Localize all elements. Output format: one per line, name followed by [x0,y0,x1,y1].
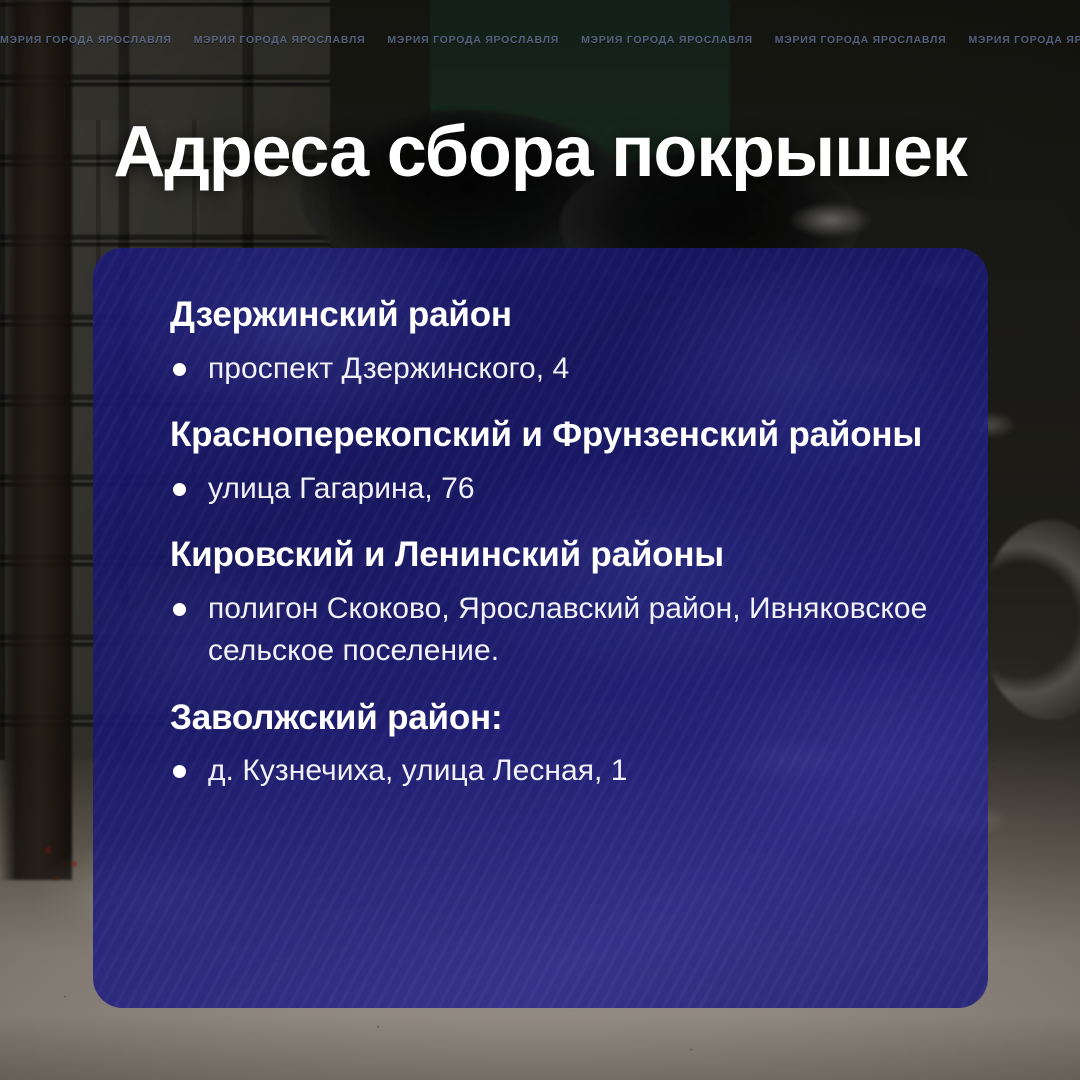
district-heading: Красноперекопский и Фрунзенский районы [170,412,938,458]
address-items: д. Кузнечиха, улица Лесная, 1 [170,750,938,793]
district-block: Красноперекопский и Фрунзенский районыул… [170,412,938,510]
district-heading: Заволжский район: [170,695,938,741]
bullet-icon [173,765,186,778]
address-items: проспект Дзержинского, 4 [170,348,938,391]
bullet-icon [173,363,186,376]
district-heading: Дзержинский район [170,292,938,338]
district-block: Кировский и Ленинский районыполигон Скок… [170,532,938,673]
list-item: проспект Дзержинского, 4 [170,348,938,391]
address-text: д. Кузнечиха, улица Лесная, 1 [208,754,628,787]
poster: МЭРИЯ ГОРОДА ЯРОСЛАВЛЯМЭРИЯ ГОРОДА ЯРОСЛ… [0,0,1080,1080]
address-list: Дзержинский районпроспект Дзержинского, … [170,292,938,793]
district-block: Заволжский район:д. Кузнечиха, улица Лес… [170,695,938,793]
address-card: Дзержинский районпроспект Дзержинского, … [93,248,988,1008]
list-item: полигон Скоково, Ярославский район, Ивня… [170,588,938,673]
bullet-icon [173,603,186,616]
list-item: д. Кузнечиха, улица Лесная, 1 [170,750,938,793]
address-items: полигон Скоково, Ярославский район, Ивня… [170,588,938,673]
address-text: полигон Скоково, Ярославский район, Ивня… [208,592,927,668]
address-text: проспект Дзержинского, 4 [208,352,569,385]
district-heading: Кировский и Ленинский районы [170,532,938,578]
bullet-icon [173,483,186,496]
list-item: улица Гагарина, 76 [170,468,938,511]
page-title: Адреса сбора покрышек [0,116,1080,189]
address-text: улица Гагарина, 76 [208,472,475,505]
address-items: улица Гагарина, 76 [170,468,938,511]
district-block: Дзержинский районпроспект Дзержинского, … [170,292,938,390]
